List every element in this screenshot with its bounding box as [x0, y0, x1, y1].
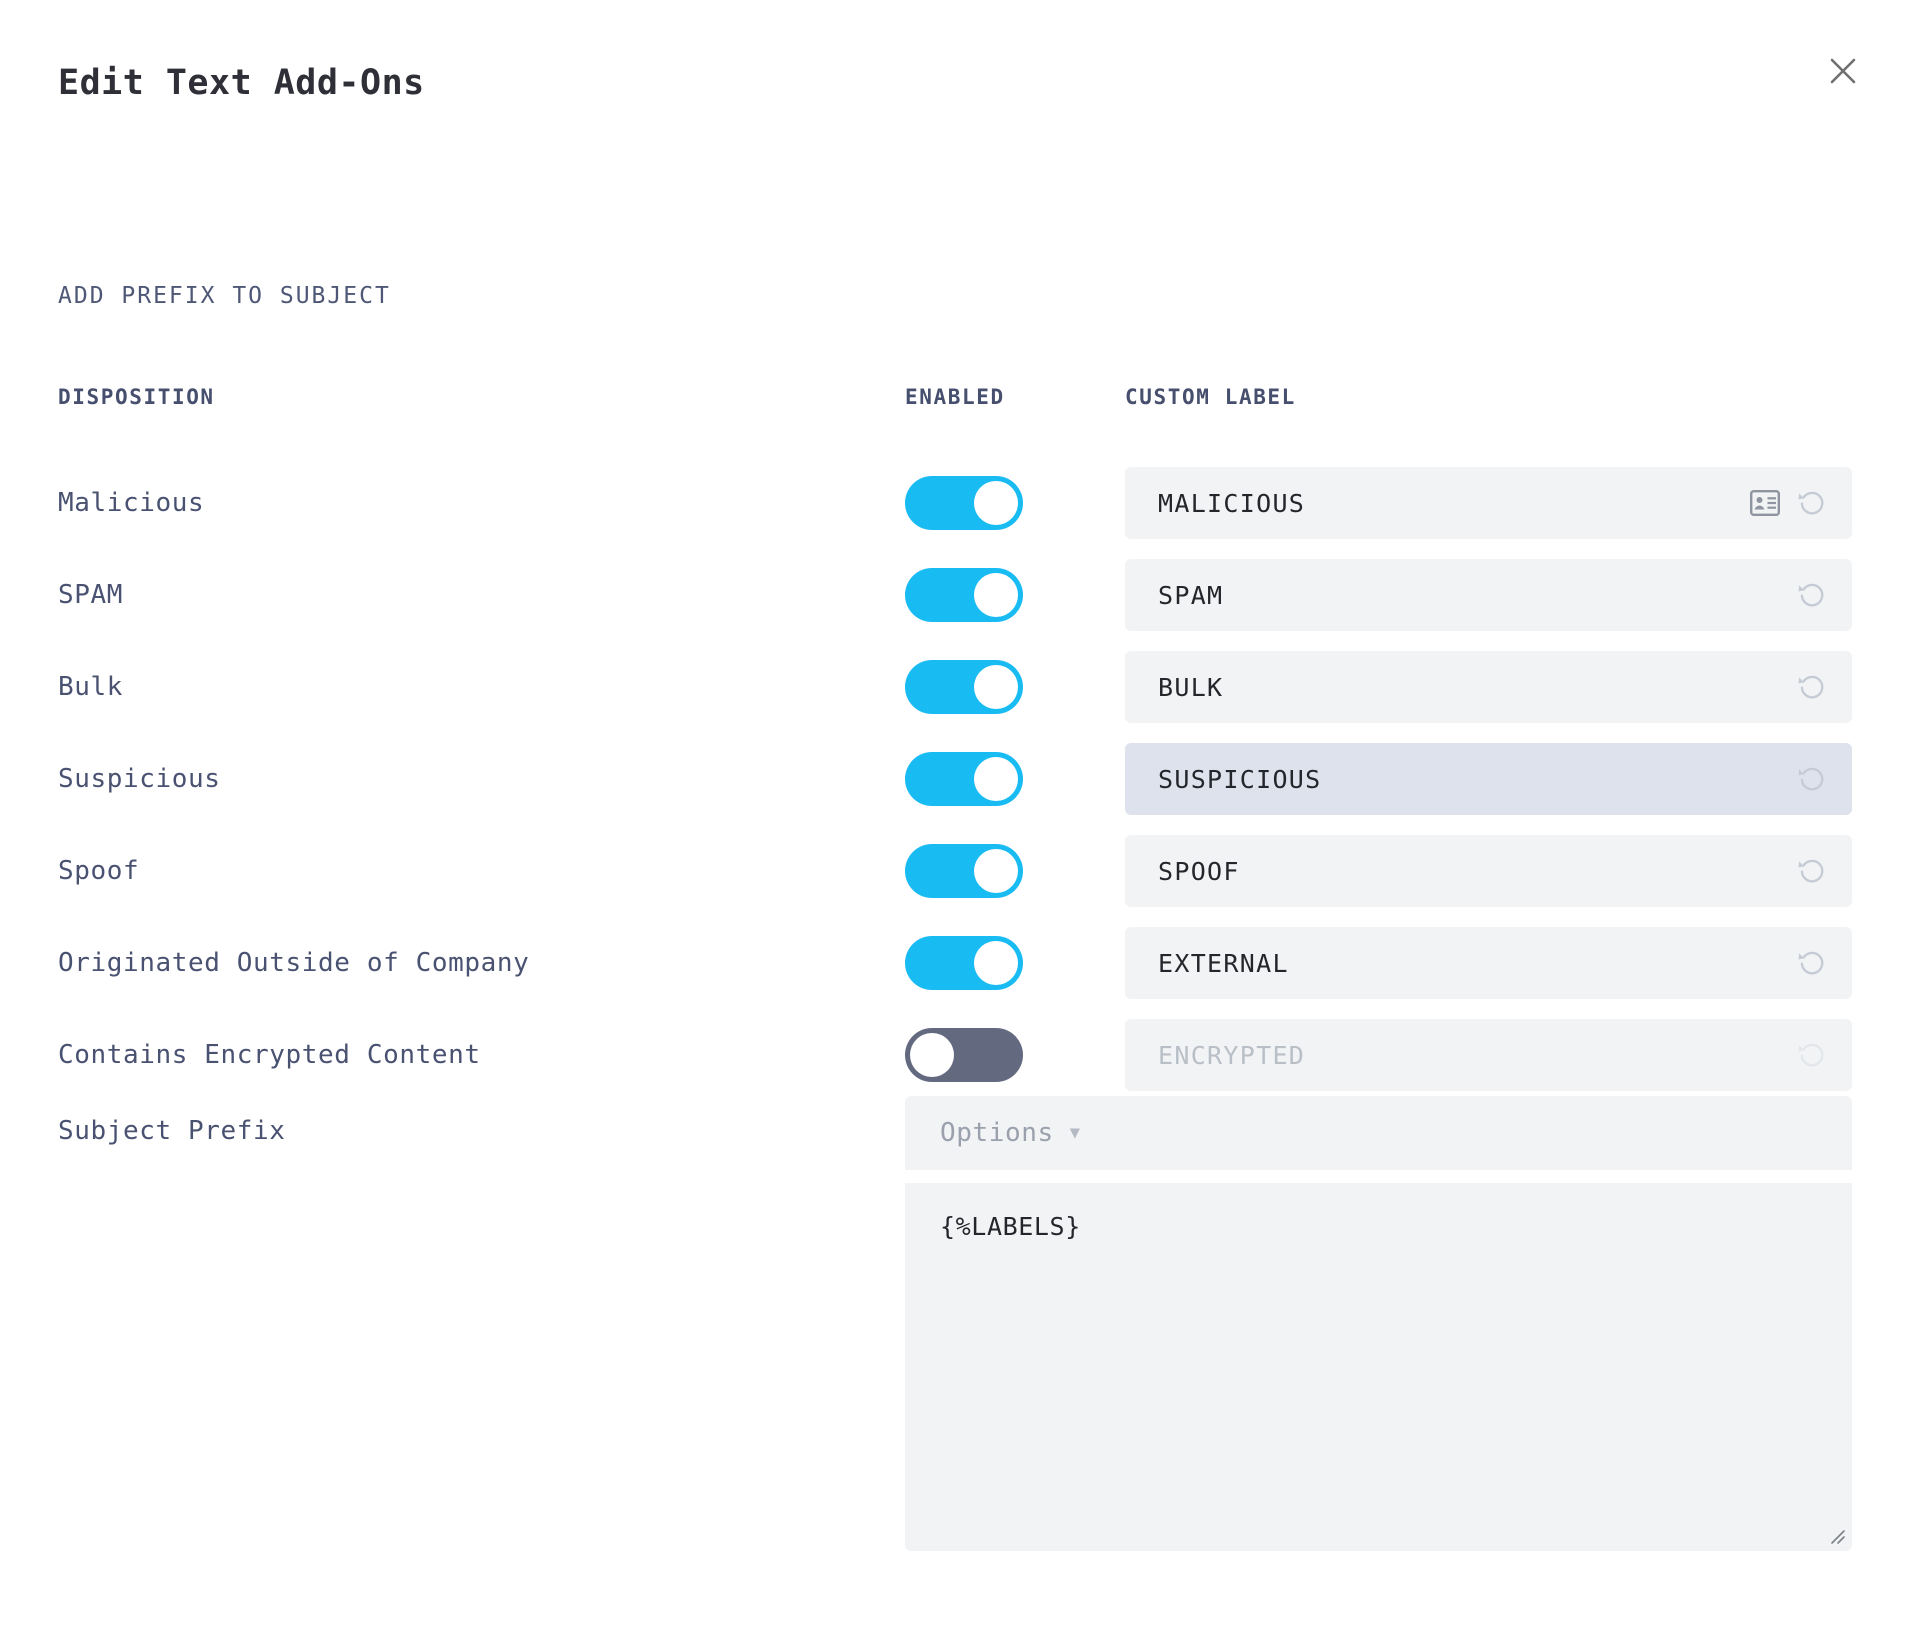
disposition-label: Contains Encrypted Content: [58, 1040, 481, 1070]
custom-label-value: EXTERNAL: [1158, 949, 1289, 978]
input-action-icons: [1796, 855, 1828, 887]
reset-arrow-icon[interactable]: [1796, 671, 1828, 703]
chevron-down-icon: ▼: [1070, 1125, 1080, 1142]
enabled-toggle[interactable]: [905, 1028, 1023, 1082]
custom-label-input[interactable]: SPOOF: [1125, 835, 1852, 907]
column-header-custom-label: CUSTOM LABEL: [1125, 385, 1296, 409]
input-action-icons: [1750, 487, 1828, 519]
disposition-label: Originated Outside of Company: [58, 948, 529, 978]
reset-arrow-icon[interactable]: [1796, 763, 1828, 795]
table-column-headers: DISPOSITION ENABLED CUSTOM LABEL: [0, 385, 1908, 419]
toggle-knob: [974, 757, 1018, 801]
table-row: Suspicious SUSPICIOUS: [0, 733, 1908, 825]
input-action-icons: [1796, 763, 1828, 795]
enabled-toggle[interactable]: [905, 660, 1023, 714]
table-row: SPAM SPAM: [0, 549, 1908, 641]
table-row: Bulk BULK: [0, 641, 1908, 733]
page-title: Edit Text Add-Ons: [58, 63, 425, 103]
input-action-icons: [1796, 671, 1828, 703]
toggle-knob: [974, 573, 1018, 617]
disposition-label: SPAM: [58, 580, 123, 610]
input-action-icons: [1796, 579, 1828, 611]
custom-label-value: SUSPICIOUS: [1158, 765, 1322, 794]
custom-label-input[interactable]: EXTERNAL: [1125, 927, 1852, 999]
disposition-label: Malicious: [58, 488, 204, 518]
reset-arrow-icon: [1796, 1039, 1828, 1071]
custom-label-value: ENCRYPTED: [1158, 1041, 1305, 1070]
disposition-label: Spoof: [58, 856, 139, 886]
input-action-icons: [1796, 947, 1828, 979]
enabled-toggle[interactable]: [905, 752, 1023, 806]
toggle-knob: [910, 1033, 954, 1077]
toggle-knob: [974, 665, 1018, 709]
enabled-toggle[interactable]: [905, 936, 1023, 990]
contact-card-icon[interactable]: [1750, 490, 1780, 516]
custom-label-input[interactable]: BULK: [1125, 651, 1852, 723]
options-dropdown-label: Options: [940, 1118, 1054, 1148]
enabled-toggle[interactable]: [905, 476, 1023, 530]
table-row: Spoof SPOOF: [0, 825, 1908, 917]
custom-label-input: ENCRYPTED: [1125, 1019, 1852, 1091]
table-row: Originated Outside of Company EXTERNAL: [0, 917, 1908, 1009]
custom-label-input[interactable]: SUSPICIOUS: [1125, 743, 1852, 815]
edit-text-addons-dialog: Edit Text Add-Ons ADD PREFIX TO SUBJECT …: [0, 0, 1908, 1650]
close-button[interactable]: [1820, 48, 1866, 94]
reset-arrow-icon[interactable]: [1796, 579, 1828, 611]
section-heading: ADD PREFIX TO SUBJECT: [58, 283, 391, 309]
disposition-label: Bulk: [58, 672, 123, 702]
table-row: Malicious MALICIOUS: [0, 457, 1908, 549]
disposition-label: Suspicious: [58, 764, 221, 794]
subject-prefix-row: Subject Prefix Options ▼: [0, 1096, 1908, 1170]
custom-label-value: BULK: [1158, 673, 1223, 702]
custom-label-input[interactable]: SPAM: [1125, 559, 1852, 631]
toggle-knob: [974, 849, 1018, 893]
custom-label-value: SPAM: [1158, 581, 1223, 610]
reset-arrow-icon[interactable]: [1796, 947, 1828, 979]
reset-arrow-icon[interactable]: [1796, 855, 1828, 887]
custom-label-value: MALICIOUS: [1158, 489, 1305, 518]
input-action-icons: [1796, 1039, 1828, 1071]
close-icon: [1828, 56, 1858, 86]
reset-arrow-icon[interactable]: [1796, 487, 1828, 519]
dialog-header: Edit Text Add-Ons: [0, 0, 1908, 140]
subject-prefix-label: Subject Prefix: [58, 1116, 286, 1146]
subject-prefix-textarea[interactable]: {%LABELS}: [905, 1183, 1852, 1551]
column-header-enabled: ENABLED: [905, 385, 1005, 409]
resize-grip-icon[interactable]: [1824, 1523, 1846, 1545]
custom-label-value: SPOOF: [1158, 857, 1240, 886]
table-row: Contains Encrypted Content ENCRYPTED: [0, 1009, 1908, 1101]
column-header-disposition: DISPOSITION: [58, 385, 215, 409]
toggle-knob: [974, 941, 1018, 985]
enabled-toggle[interactable]: [905, 844, 1023, 898]
custom-label-input[interactable]: MALICIOUS: [1125, 467, 1852, 539]
enabled-toggle[interactable]: [905, 568, 1023, 622]
subject-prefix-value: {%LABELS}: [940, 1212, 1081, 1241]
options-dropdown[interactable]: Options ▼: [905, 1096, 1852, 1170]
toggle-knob: [974, 481, 1018, 525]
